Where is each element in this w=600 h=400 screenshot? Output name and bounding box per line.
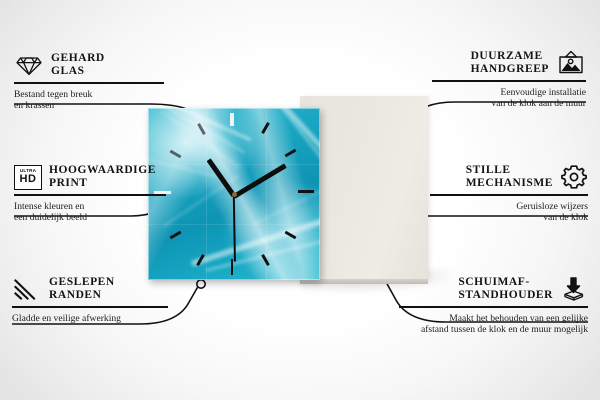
feature-hoogwaardige-print: ultra HD HOOGWAARDIGE PRINT Intense kleu… bbox=[14, 164, 166, 224]
feature-title-row: STILLE MECHANISME bbox=[430, 164, 588, 190]
feature-title: HOOGWAARDIGE PRINT bbox=[49, 164, 156, 190]
glass-clock-face bbox=[148, 108, 320, 280]
feature-rule bbox=[12, 306, 168, 308]
ultra-hd-icon: ultra HD bbox=[14, 165, 42, 190]
feature-title: STILLE MECHANISME bbox=[466, 164, 553, 190]
feature-title-row: SCHUIMAF- STANDHOUDER bbox=[399, 276, 588, 302]
feature-description: Maakt het behouden van een gelijke afsta… bbox=[399, 313, 588, 336]
feature-title-row: GEHARD GLAS bbox=[14, 52, 164, 78]
feature-duurzame-handgreep: DUURZAME HANDGREEP Eenvoudige installati… bbox=[432, 50, 586, 110]
feature-gehard-glas: GEHARD GLAS Bestand tegen breuk en krass… bbox=[14, 52, 164, 112]
feature-description: Geruisloze wijzers van de klok bbox=[430, 201, 588, 224]
feature-title-row: ultra HD HOOGWAARDIGE PRINT bbox=[14, 164, 166, 190]
feature-rule bbox=[432, 80, 586, 82]
feature-schuimafstandhouder: SCHUIMAF- STANDHOUDER Maakt het behouden… bbox=[399, 276, 588, 336]
ultra-hd-icon-big-label: HD bbox=[20, 174, 37, 185]
feature-title-row: DUURZAME HANDGREEP bbox=[432, 50, 586, 76]
feature-rule bbox=[14, 194, 166, 196]
feature-title: DUURZAME HANDGREEP bbox=[471, 50, 549, 76]
feature-description: Intense kleuren en een duidelijk beeld bbox=[14, 201, 166, 224]
infographic-stage: GEHARD GLAS Bestand tegen breuk en krass… bbox=[0, 0, 600, 400]
feature-title-row: GESLEPEN RANDEN bbox=[12, 276, 168, 302]
feature-title: SCHUIMAF- STANDHOUDER bbox=[458, 276, 553, 302]
connector-dot-geslepen-randen bbox=[197, 280, 205, 288]
gear-icon bbox=[560, 164, 588, 190]
foam-spacer-icon bbox=[560, 276, 588, 302]
hanging-picture-icon bbox=[556, 50, 586, 76]
feature-stille-mechanisme: STILLE MECHANISME Geruisloze wijzers van… bbox=[430, 164, 588, 224]
feature-title: GESLEPEN RANDEN bbox=[49, 276, 115, 302]
diamond-icon bbox=[14, 53, 44, 77]
feature-description: Eenvoudige installatie van de klok aan d… bbox=[432, 87, 586, 110]
beveled-edges-icon bbox=[12, 277, 42, 301]
clock-center-pin bbox=[232, 192, 237, 197]
feature-title: GEHARD GLAS bbox=[51, 52, 105, 78]
feature-rule bbox=[14, 82, 164, 84]
feature-description: Bestand tegen breuk en krassen bbox=[14, 89, 164, 112]
feature-description: Gladde en veilige afwerking bbox=[12, 313, 168, 325]
feature-geslepen-randen: GESLEPEN RANDEN Gladde en veilige afwerk… bbox=[12, 276, 168, 324]
feature-rule bbox=[430, 194, 588, 196]
feature-rule bbox=[399, 306, 588, 308]
